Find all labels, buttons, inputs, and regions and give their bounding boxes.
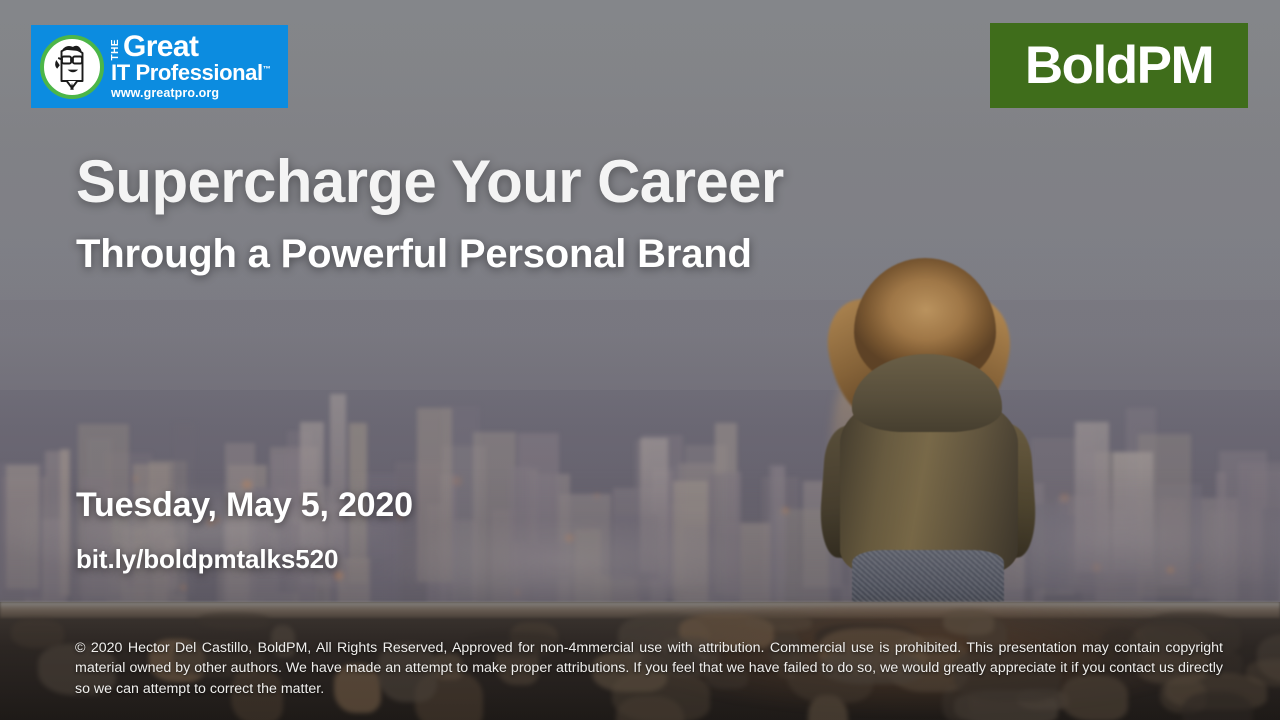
street-light	[452, 476, 462, 486]
event-link[interactable]: bit.ly/boldpmtalks520	[76, 545, 338, 574]
ledge-rock	[745, 614, 812, 631]
street-light	[1092, 563, 1101, 572]
background-photo	[0, 0, 1280, 720]
street-light	[1197, 565, 1201, 569]
logo-the-label: THE	[111, 38, 121, 61]
street-light	[782, 507, 788, 513]
logo-great-label: Great	[123, 33, 198, 60]
ledge-rock	[11, 619, 63, 648]
logo-boldpm-label: BoldPM	[1025, 39, 1213, 92]
slide-title: Supercharge Your Career	[76, 150, 784, 213]
copyright-notice: © 2020 Hector Del Castillo, BoldPM, All …	[75, 638, 1223, 699]
logo-boldpm[interactable]: BoldPM	[990, 23, 1248, 108]
logo-great-it-professional[interactable]: THE Great IT Professional™ www.greatpro.…	[31, 25, 288, 108]
street-light	[565, 534, 573, 542]
ledge-rock	[199, 613, 269, 629]
logo-great-wordmark: THE Great IT Professional™ www.greatpro.…	[111, 33, 270, 100]
mascot-face-icon	[44, 39, 100, 95]
street-light	[181, 585, 186, 590]
ledge-rock	[1155, 612, 1226, 634]
skirt	[852, 550, 1004, 608]
event-date: Tuesday, May 5, 2020	[76, 487, 413, 524]
street-light	[132, 475, 139, 482]
slide-subtitle: Through a Powerful Personal Brand	[76, 232, 752, 276]
logo-itpro-text: IT Professional	[111, 60, 263, 85]
woman-figure	[790, 258, 1090, 610]
title-slide: THE Great IT Professional™ www.greatpro.…	[0, 0, 1280, 720]
street-light	[595, 493, 599, 497]
it-professional-mascot-icon	[40, 35, 104, 99]
logo-great-url[interactable]: www.greatpro.org	[111, 87, 270, 100]
ledge-rock	[616, 696, 684, 720]
street-light	[515, 590, 520, 595]
street-light	[1167, 567, 1173, 573]
logo-trademark-symbol: ™	[263, 65, 271, 74]
ledge-rock	[943, 610, 993, 634]
logo-great-row: THE Great	[111, 33, 270, 60]
logo-itpro-label: IT Professional™	[111, 61, 270, 84]
